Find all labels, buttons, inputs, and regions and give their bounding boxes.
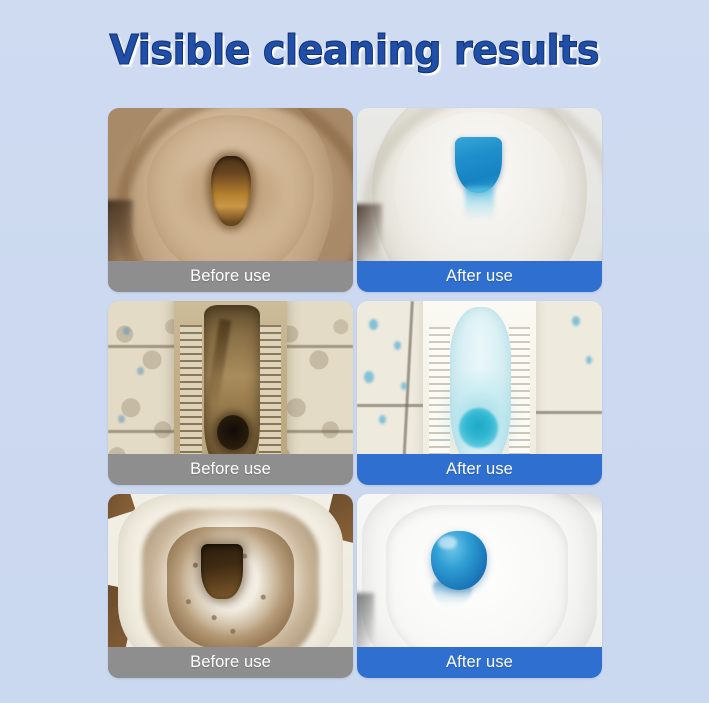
blue-gel-shape (455, 137, 502, 192)
label-after-2-text: After use (446, 460, 513, 479)
page-title: Visible cleaning results (110, 26, 600, 74)
label-after-1: After use (357, 261, 602, 292)
comparison-card-after-1[interactable]: After use (357, 108, 602, 292)
label-before-3-text: Before use (190, 653, 271, 672)
label-after-3-text: After use (446, 653, 513, 672)
bowl-inner-shape (386, 505, 567, 663)
label-after-2: After use (357, 454, 602, 485)
grout-line-shape (357, 404, 431, 407)
tile-chip-shape (123, 327, 130, 335)
label-before-2: Before use (108, 454, 353, 485)
label-before-3: Before use (108, 647, 353, 678)
grout-line-shape (526, 411, 602, 414)
shadow-shape (553, 494, 602, 512)
comparison-card-before-3[interactable]: Before use (108, 494, 353, 678)
tile-chip-shape (118, 415, 125, 423)
page-root: Visible cleaning results Before use (0, 0, 709, 703)
blue-gel-runoff-shape (465, 187, 494, 220)
comparison-card-before-1[interactable]: Before use (108, 108, 353, 292)
label-before-1-text: Before use (190, 267, 271, 286)
comparison-card-after-2[interactable]: After use (357, 301, 602, 485)
comparison-card-after-3[interactable]: After use (357, 494, 602, 678)
blue-foam-shape (459, 408, 498, 448)
page-title-wrap: Visible cleaning results (0, 26, 709, 86)
comparison-card-before-2[interactable]: Before use (108, 301, 353, 485)
footrest-right-shape (259, 325, 281, 457)
label-after-3: After use (357, 647, 602, 678)
label-before-2-text: Before use (190, 460, 271, 479)
footrest-left-shape (180, 325, 202, 457)
blue-droplet-shape (572, 316, 580, 326)
label-before-1: Before use (108, 261, 353, 292)
label-after-1-text: After use (446, 267, 513, 286)
drain-hole-shape (201, 544, 243, 599)
comparison-grid: Before use After use (108, 108, 602, 678)
drain-hole-shape (217, 415, 249, 450)
